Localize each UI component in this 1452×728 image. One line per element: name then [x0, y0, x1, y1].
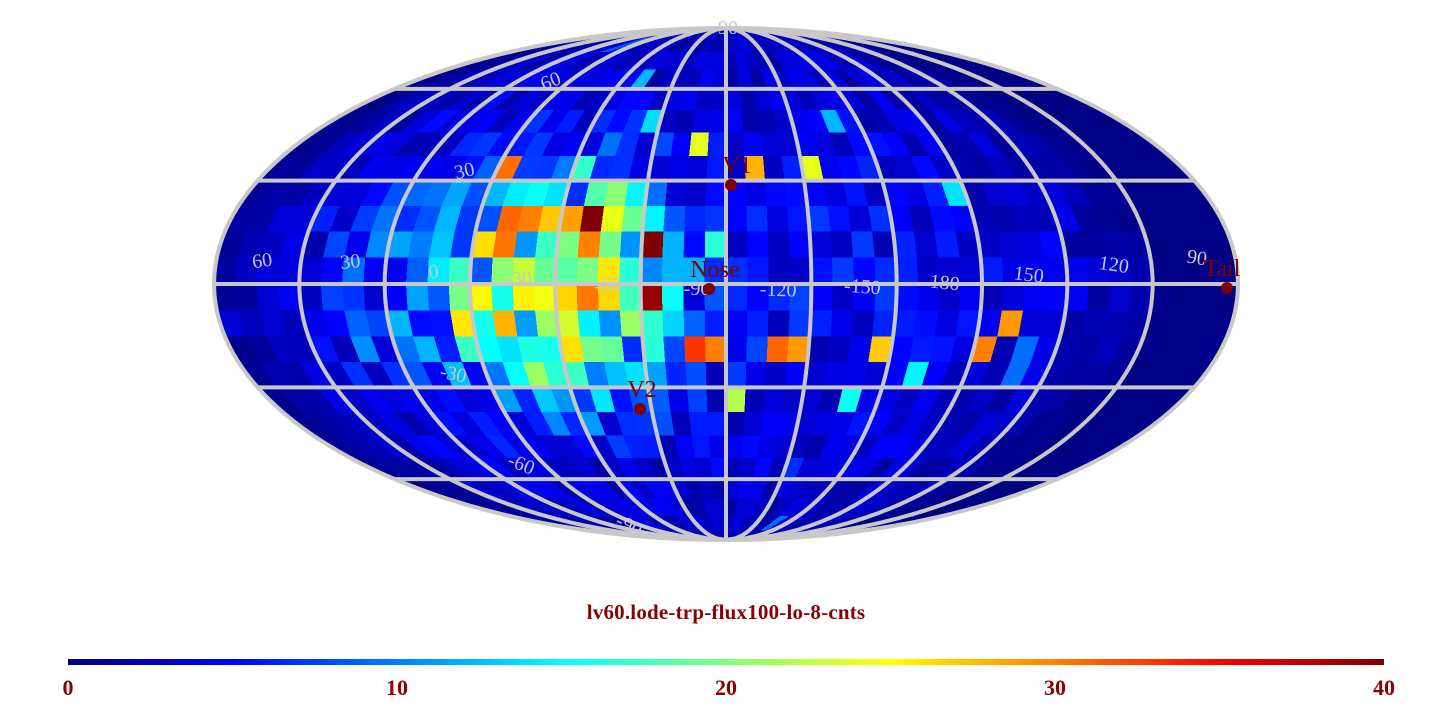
heatmap-cell	[662, 284, 684, 310]
heatmap-cell	[726, 336, 747, 362]
heatmap-cell	[712, 479, 726, 498]
heatmap-cell	[742, 436, 761, 458]
skymap-panel: 90603060300-30-60-90-120-15018015012090-…	[0, 0, 1452, 560]
heatmap-cell	[580, 336, 604, 362]
heatmap-cell	[810, 232, 833, 258]
graticule-label: -30	[505, 267, 533, 290]
heatmap-cell	[744, 387, 765, 412]
heatmap-cell	[746, 362, 767, 387]
heatmap-cell	[726, 412, 744, 436]
heatmap-cell	[620, 232, 643, 258]
graticule-label: 120	[1097, 252, 1130, 278]
heatmap-cell	[710, 458, 726, 479]
allsky-mollweide-map[interactable]: 90603060300-30-60-90-120-15018015012090-…	[0, 0, 1452, 560]
graticule-label: -60	[594, 275, 621, 298]
heatmap-cell	[235, 284, 259, 310]
heatmap-cell	[641, 232, 663, 258]
heatmap-cell	[896, 258, 918, 284]
heatmap-cell	[641, 284, 663, 310]
heatmap-cell	[689, 412, 709, 436]
heatmap-cell	[708, 412, 726, 436]
heatmap-cell	[1044, 258, 1067, 284]
heatmap-cell	[684, 310, 706, 336]
heatmap-cell	[726, 232, 747, 258]
heatmap-cell	[706, 181, 726, 206]
heatmap-cell	[981, 284, 1004, 310]
heatmap-cell	[765, 362, 787, 387]
graticule-label: 0	[428, 261, 440, 284]
heatmap-cell	[534, 284, 556, 310]
heatmap-cell	[427, 284, 450, 310]
heatmap-cell	[406, 258, 429, 284]
heatmap-cell	[385, 258, 408, 284]
heatmap-cell	[665, 362, 687, 387]
heatmap-cell	[830, 310, 853, 336]
marker-label: V1	[722, 153, 751, 179]
graticule-label: 60	[251, 249, 274, 274]
heatmap-cell	[662, 232, 684, 258]
marker-dot[interactable]	[1221, 282, 1233, 294]
heatmap-cell	[747, 310, 769, 336]
marker-dot[interactable]	[725, 179, 737, 191]
heatmap-cell	[828, 336, 852, 362]
marker-dot[interactable]	[703, 283, 715, 295]
heatmap-cell	[851, 232, 874, 258]
colorbar-tick-30: 30	[1044, 675, 1066, 701]
heatmap-cell	[848, 206, 872, 232]
heatmap-cell	[914, 310, 938, 336]
heatmap-cell	[746, 181, 767, 206]
heatmap-cell	[710, 89, 726, 110]
figure-title: lv60.lode-trp-flux100-lo-8-cnts	[0, 600, 1452, 625]
heatmap-cell	[667, 387, 689, 412]
heatmap-cell	[601, 206, 625, 232]
heatmap-cell	[914, 232, 938, 258]
heatmap-cell	[692, 436, 711, 458]
heatmap-cell	[534, 258, 556, 284]
heatmap-cell	[663, 336, 685, 362]
heatmap-cell	[685, 181, 706, 206]
figure-root: 90603060300-30-60-90-120-15018015012090-…	[0, 0, 1452, 728]
heatmap-cell	[685, 362, 706, 387]
heatmap-cell	[619, 284, 641, 310]
heatmap-cell	[726, 310, 747, 336]
heatmap-cell	[767, 206, 789, 232]
colorbar-tick-20: 20	[715, 675, 737, 701]
heatmap-cell	[705, 310, 726, 336]
heatmap-cell	[1172, 284, 1196, 310]
heatmap-cell	[726, 479, 740, 498]
heatmap-cell	[981, 258, 1004, 284]
heatmap-cell	[746, 336, 767, 362]
heatmap-cell	[1023, 284, 1046, 310]
heatmap-cell	[712, 69, 726, 88]
colorbar-tick-10: 10	[386, 675, 408, 701]
heatmap-cell	[726, 206, 747, 232]
heatmap-cell	[810, 310, 833, 336]
heatmap-cell	[449, 258, 472, 284]
heatmap-cell	[726, 69, 740, 88]
heatmap-cell	[692, 110, 711, 132]
heatmap-cell	[1087, 284, 1110, 310]
colorbar-tick-40: 40	[1373, 675, 1395, 701]
heatmap-cell	[514, 310, 538, 336]
heatmap-cell	[321, 284, 344, 310]
heatmap-cell	[811, 284, 833, 310]
heatmap-cell	[665, 181, 687, 206]
heatmap-cell	[763, 387, 785, 412]
colorbar-tick-0: 0	[63, 675, 74, 701]
colorbar-gradient[interactable]	[68, 659, 1384, 665]
heatmap-cell	[687, 156, 708, 181]
heatmap-cell	[767, 336, 789, 362]
heatmap-cell	[765, 181, 787, 206]
heatmap-cell	[257, 284, 281, 310]
heatmap-cell	[667, 156, 689, 181]
heatmap-cell	[705, 336, 726, 362]
heatmap-cell	[580, 206, 604, 232]
heatmap-cell	[599, 232, 622, 258]
heatmap-cell	[470, 284, 493, 310]
heatmap-cell	[663, 206, 685, 232]
heatmap-cell	[599, 310, 622, 336]
heatmap-cell	[726, 110, 743, 132]
heatmap-cell	[577, 232, 600, 258]
heatmap-cell	[706, 362, 726, 387]
heatmap-cell	[342, 284, 365, 310]
heatmap-cell	[935, 232, 960, 258]
heatmap-cell	[1108, 284, 1131, 310]
heatmap-cell	[726, 89, 742, 110]
graticule-label: 150	[1013, 262, 1045, 287]
marker-dot[interactable]	[634, 403, 646, 415]
heatmap-cell	[1044, 284, 1067, 310]
heatmap-cell	[662, 258, 684, 284]
heatmap-cell	[726, 362, 746, 387]
heatmap-cell	[789, 310, 811, 336]
heatmap-cell	[385, 284, 408, 310]
graticule-label: 180	[929, 271, 961, 296]
heatmap-cell	[959, 284, 982, 310]
heatmap-cell	[726, 387, 746, 412]
marker-label: Nose	[690, 257, 739, 283]
heatmap-cell	[746, 206, 767, 232]
heatmap-cell	[709, 436, 726, 458]
heatmap-cell	[763, 156, 785, 181]
heatmap-cell	[577, 310, 600, 336]
heatmap-cell	[1193, 284, 1217, 310]
heatmap-cell	[768, 310, 790, 336]
heatmap-cell	[687, 387, 708, 412]
heatmap-cell	[684, 336, 705, 362]
heatmap-cell	[641, 258, 663, 284]
heatmap-cell	[662, 310, 684, 336]
heatmap-cell	[470, 258, 493, 284]
heatmap-cell	[514, 232, 538, 258]
graticule-label: -150	[843, 275, 881, 300]
heatmap-cell	[684, 232, 706, 258]
heatmap-cell	[709, 110, 726, 132]
heatmap-cell	[959, 258, 982, 284]
heatmap-cell	[705, 232, 726, 258]
heatmap-cell	[743, 412, 763, 436]
heatmap-cell	[811, 258, 833, 284]
heatmap-cell	[747, 232, 769, 258]
heatmap-cell	[1002, 284, 1025, 310]
heatmap-cell	[830, 232, 853, 258]
heatmap-cell	[406, 284, 429, 310]
heatmap-cell	[601, 336, 625, 362]
heatmap-cell	[493, 310, 518, 336]
heatmap-cell	[449, 284, 472, 310]
heatmap-cell	[726, 284, 747, 310]
heatmap-cell	[555, 258, 577, 284]
colorbar-tick-labels: 010203040	[68, 675, 1384, 715]
heatmap-cell	[742, 110, 761, 132]
heatmap-cell	[828, 206, 852, 232]
graticule-label: -120	[760, 278, 797, 301]
heatmap-cell	[689, 132, 709, 156]
graticule-label: 30	[339, 250, 361, 274]
heatmap-cell	[851, 310, 874, 336]
heatmap-cell	[789, 232, 811, 258]
heatmap-cell	[684, 206, 705, 232]
heatmap-cell	[706, 387, 726, 412]
colorbar[interactable]: 010203040	[68, 659, 1384, 719]
heatmap-cell	[619, 258, 641, 284]
heatmap-cell	[493, 232, 518, 258]
heatmap-cell	[705, 206, 726, 232]
heatmap-cell	[641, 310, 663, 336]
heatmap-cell	[620, 310, 643, 336]
heatmap-cell	[555, 284, 577, 310]
marker-label: Tail	[1204, 256, 1241, 282]
heatmap-cell	[768, 232, 790, 258]
heatmap-cell	[896, 284, 918, 310]
heatmap-cell	[726, 458, 742, 479]
heatmap-cell	[726, 436, 743, 458]
marker-label: V2	[627, 377, 656, 403]
graticule-label: 90	[718, 17, 738, 39]
heatmap-cell	[848, 336, 872, 362]
heatmap-cell	[935, 310, 960, 336]
